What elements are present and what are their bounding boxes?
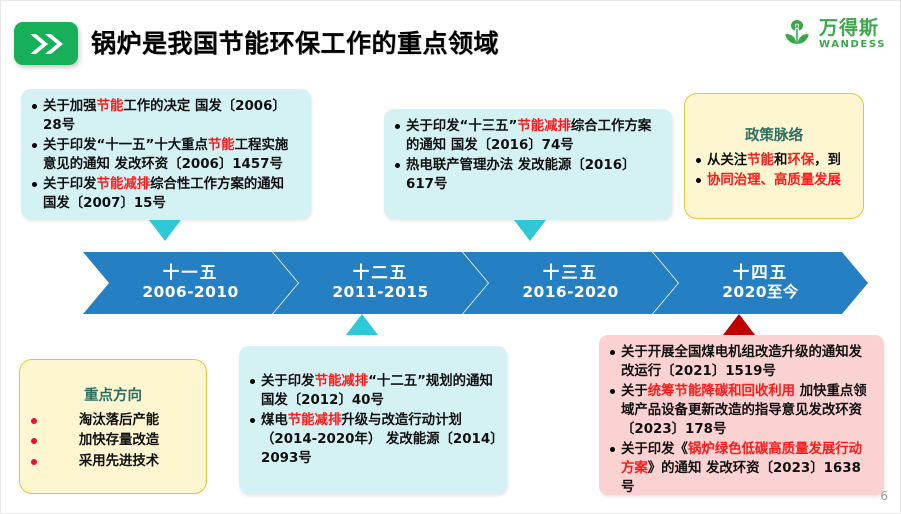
- highlighted-text: 节能: [747, 153, 774, 168]
- focus-directions-list: 淘汰落后产能加快存量改造采用先进技术: [30, 411, 196, 471]
- policy-context-list: 从关注节能和环保，到协同治理、高质量发展: [695, 151, 853, 191]
- focus-directions-title: 重点方向: [30, 384, 196, 405]
- list-item: 关于印发《锅炉绿色低碳高质量发展行动方案》的通知 发改环资〔2023〕1638号: [609, 440, 874, 497]
- page-number: 6: [880, 489, 888, 503]
- policy-list-12th: 关于印发节能减排“十二五”规划的通知 国发〔2012〕40号煤电节能减排升级与改…: [249, 372, 497, 468]
- plain-text: 关于印发“十一五”十大重点: [43, 138, 208, 153]
- list-item: 关于印发节能减排“十二五”规划的通知 国发〔2012〕40号: [249, 372, 497, 410]
- brand-logo: 万得斯 WANDESS: [601, 13, 886, 55]
- list-item: 关于开展全国煤电机组改造升级的通知发改运行〔2021〕1519号: [609, 343, 874, 381]
- plain-text: 》的通知 发改环资〔2023〕1638号: [621, 461, 861, 495]
- connector-triangle-up-14th: [723, 314, 755, 335]
- plain-text: 关于: [621, 384, 648, 399]
- timeline-period-3: 十四五: [733, 264, 789, 283]
- list-item: 关于印发“十三五”节能减排综合工作方案的通知 国发〔2016〕74号: [394, 117, 662, 155]
- list-item: 煤电节能减排升级与改造行动计划（2014-2020年） 发改能源〔2014〕20…: [249, 411, 497, 468]
- wandess-leaf-logo-icon: [782, 17, 812, 51]
- callout-box-policy-context: 政策脉络 从关注节能和环保，到协同治理、高质量发展: [684, 93, 864, 219]
- timeline-years-1: 2011-2015: [332, 283, 428, 302]
- page-title: 锅炉是我国节能环保工作的重点领域: [91, 24, 499, 60]
- logo-text-en: WANDESS: [819, 40, 886, 50]
- callout-box-11th-plan: 关于加强节能工作的决定 国发〔2006〕28号关于印发“十一五”十大重点节能工程…: [21, 89, 311, 219]
- highlighted-text: 环保: [787, 153, 814, 168]
- list-item: 关于印发“十一五”十大重点节能工程实施意见的通知 发改环资〔2006〕1457号: [31, 136, 301, 174]
- list-item: 采用先进技术: [30, 452, 196, 471]
- list-item: 热电联产管理办法 发改能源〔2016〕617号: [394, 156, 662, 194]
- connector-triangle-down-11th: [149, 220, 181, 241]
- timeline-period-1: 十二五: [353, 264, 409, 283]
- plain-text: 和: [774, 153, 787, 168]
- plain-text: 关于印发《: [621, 442, 688, 457]
- plain-text: 关于印发: [43, 177, 97, 192]
- slide-canvas: 锅炉是我国节能环保工作的重点领域 万得斯 WANDESS 关于加强节能工作的决定…: [0, 0, 901, 514]
- plain-text: 从关注: [707, 153, 747, 168]
- plain-text: ，到: [814, 153, 841, 168]
- plain-text: 热电联产管理办法 发改能源〔2016〕617号: [406, 158, 635, 192]
- highlighted-text: 节能减排: [517, 119, 571, 134]
- policy-list-13th: 关于印发“十三五”节能减排综合工作方案的通知 国发〔2016〕74号热电联产管理…: [394, 117, 662, 194]
- plain-text: 关于加强: [43, 99, 97, 114]
- list-item: 淘汰落后产能: [30, 411, 196, 430]
- callout-box-12th-plan: 关于印发节能减排“十二五”规划的通知 国发〔2012〕40号煤电节能减排升级与改…: [239, 346, 507, 494]
- list-item: 关于加强节能工作的决定 国发〔2006〕28号: [31, 97, 301, 135]
- list-item: 加快存量改造: [30, 431, 196, 450]
- timeline-period-2: 十三五: [543, 264, 599, 283]
- timeline-years-2: 2016-2020: [522, 283, 618, 302]
- timeline-years-3: 2020至今: [722, 283, 799, 302]
- policy-context-title: 政策脉络: [695, 124, 853, 145]
- highlighted-text: 节能减排: [315, 374, 369, 389]
- connector-triangle-up-12th: [346, 314, 378, 335]
- highlighted-text: 节能减排: [97, 177, 151, 192]
- callout-box-14th-plan: 关于开展全国煤电机组改造升级的通知发改运行〔2021〕1519号关于统筹节能降碳…: [599, 335, 884, 495]
- plain-text: 关于开展全国煤电机组改造升级的通知发改运行〔2021〕1519号: [621, 345, 862, 379]
- list-item: 从关注节能和环保，到: [695, 151, 853, 170]
- timeline-chevron-0[interactable]: 十一五 2006-2010: [83, 252, 298, 314]
- plain-text: 关于印发: [261, 374, 315, 389]
- list-item: 关于统筹节能降碳和回收利用 加快重点领域产品设备更新改造的指导意见发改环资〔20…: [609, 382, 874, 439]
- timeline-chevron-1[interactable]: 十二五 2011-2015: [273, 252, 488, 314]
- timeline-chevron-2[interactable]: 十三五 2016-2020: [463, 252, 678, 314]
- policy-list-11th: 关于加强节能工作的决定 国发〔2006〕28号关于印发“十一五”十大重点节能工程…: [31, 97, 301, 213]
- highlighted-text: 节能: [97, 99, 124, 114]
- timeline-period-0: 十一五: [163, 264, 219, 283]
- highlighted-text: 节能减排: [288, 413, 342, 428]
- callout-box-focus-directions: 重点方向 淘汰落后产能加快存量改造采用先进技术: [19, 359, 207, 494]
- connector-triangle-down-13th: [514, 220, 546, 241]
- highlighted-text: 统筹节能降碳和回收利用: [648, 384, 795, 399]
- callout-box-13th-plan: 关于印发“十三五”节能减排综合工作方案的通知 国发〔2016〕74号热电联产管理…: [384, 109, 672, 219]
- logo-text-cn: 万得斯: [819, 19, 886, 38]
- double-chevron-right-icon: [14, 22, 78, 65]
- plain-text: 煤电: [261, 413, 288, 428]
- plain-text: 关于印发“十三五”: [406, 119, 517, 134]
- timeline-years-0: 2006-2010: [142, 283, 238, 302]
- timeline-chevron-3[interactable]: 十四五 2020至今: [653, 252, 868, 314]
- highlighted-text: 协同治理、高质量发展: [707, 173, 841, 188]
- list-item: 协同治理、高质量发展: [695, 171, 853, 190]
- policy-list-14th: 关于开展全国煤电机组改造升级的通知发改运行〔2021〕1519号关于统筹节能降碳…: [609, 343, 874, 497]
- list-item: 关于印发节能减排综合性工作方案的通知 国发〔2007〕15号: [31, 175, 301, 213]
- highlighted-text: 节能: [208, 138, 235, 153]
